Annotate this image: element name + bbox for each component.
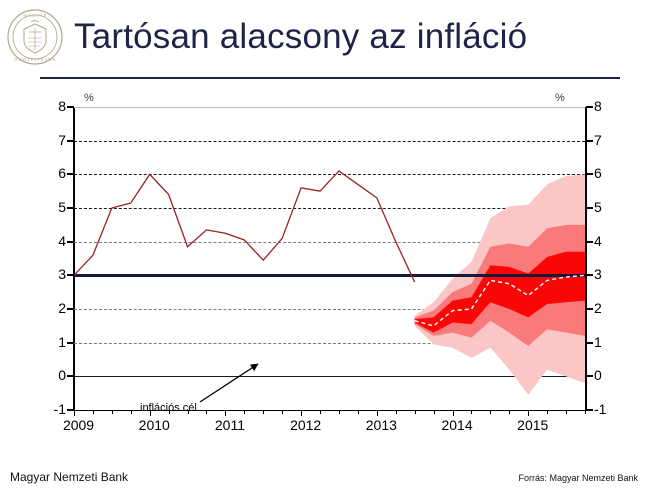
y-tick-mark-left-7 xyxy=(67,140,74,142)
y-tick-label-left-8: 8 xyxy=(26,99,66,113)
x-tick-mark xyxy=(225,410,226,416)
x-tick-mark xyxy=(358,410,359,414)
page-title: Tartósan alacsony az infláció xyxy=(74,14,527,60)
y-tick-mark-right-6 xyxy=(586,173,593,175)
x-tick-label-2013: 2013 xyxy=(366,417,397,433)
x-tick-mark xyxy=(244,410,245,414)
y-tick-mark-left--1 xyxy=(67,409,74,411)
x-tick-mark xyxy=(74,410,75,416)
y-tick-label-right-3: 3 xyxy=(594,267,634,281)
svg-text:N E M Z E T I B A N K: N E M Z E T I B A N K xyxy=(14,57,56,62)
y-tick-mark-right-7 xyxy=(586,140,593,142)
y-tick-label-right-0: 0 xyxy=(594,368,634,382)
inflation-target-arrow-icon xyxy=(198,358,268,406)
x-tick-mark xyxy=(471,410,472,414)
y-axis-unit-right: % xyxy=(555,92,565,104)
x-tick-mark xyxy=(320,410,321,414)
x-tick-mark xyxy=(93,410,94,414)
y-tick-mark-left-2 xyxy=(67,308,74,310)
y-tick-mark-left-3 xyxy=(67,274,74,276)
x-tick-mark xyxy=(490,410,491,414)
y-axis-unit-left: % xyxy=(84,92,94,104)
y-tick-mark-left-5 xyxy=(67,207,74,209)
x-tick-mark xyxy=(206,410,207,414)
y-tick-mark-right-4 xyxy=(586,241,593,243)
y-tick-label-left-6: 6 xyxy=(26,166,66,180)
title-divider xyxy=(40,77,620,79)
x-tick-label-2015: 2015 xyxy=(517,417,548,433)
y-tick-mark-right-1 xyxy=(586,342,593,344)
x-tick-mark xyxy=(415,410,416,414)
x-tick-mark xyxy=(301,410,302,416)
x-tick-label-2011: 2011 xyxy=(215,417,245,433)
y-tick-mark-right-5 xyxy=(586,207,593,209)
y-tick-label-left-3: 3 xyxy=(26,267,66,281)
x-tick-label-2014: 2014 xyxy=(441,417,472,433)
y-tick-label-right-2: 2 xyxy=(594,301,634,315)
inflation-target-annotation-label: inflációs cél xyxy=(140,402,197,414)
y-tick-label-left-4: 4 xyxy=(26,234,66,248)
y-tick-mark-left-1 xyxy=(67,342,74,344)
y-tick-label-right--1: -1 xyxy=(594,402,634,416)
y-tick-label-left-5: 5 xyxy=(26,200,66,214)
series-path xyxy=(415,275,585,326)
y-tick-label-right-4: 4 xyxy=(594,234,634,248)
x-tick-mark xyxy=(528,410,529,416)
plot-area xyxy=(74,107,585,410)
y-tick-label-right-8: 8 xyxy=(594,99,634,113)
x-tick-mark xyxy=(377,410,378,416)
y-tick-label-right-5: 5 xyxy=(594,200,634,214)
footer-source: Forrás: Magyar Nemzeti Bank xyxy=(518,473,638,483)
x-tick-mark xyxy=(131,410,132,414)
inflation-series-line xyxy=(74,107,585,410)
y-tick-mark-left-8 xyxy=(67,106,74,108)
y-tick-mark-right-0 xyxy=(586,375,593,377)
x-tick-label-2010: 2010 xyxy=(139,417,170,433)
y-tick-label-left-0: 0 xyxy=(26,368,66,382)
y-tick-label-left-1: 1 xyxy=(26,335,66,349)
y-tick-label-left-7: 7 xyxy=(26,133,66,147)
y-tick-mark-left-0 xyxy=(67,375,74,377)
x-tick-mark xyxy=(434,410,435,414)
svg-text:M A G Y A R: M A G Y A R xyxy=(23,13,46,18)
series-path xyxy=(74,171,415,282)
x-tick-mark xyxy=(566,410,567,414)
y-tick-label-left-2: 2 xyxy=(26,301,66,315)
y-tick-mark-right-3 xyxy=(586,274,593,276)
x-tick-mark xyxy=(509,410,510,414)
y-tick-label-left--1: -1 xyxy=(26,402,66,416)
x-tick-mark xyxy=(396,410,397,414)
x-tick-mark xyxy=(453,410,454,416)
x-tick-mark xyxy=(263,410,264,414)
inflation-fan-chart: % % -1-1001122334455667788 2009201020112… xyxy=(0,84,650,434)
x-tick-mark xyxy=(547,410,548,414)
x-tick-label-2009: 2009 xyxy=(63,417,94,433)
y-axis-right xyxy=(585,107,587,411)
x-tick-mark xyxy=(112,410,113,414)
x-tick-label-2012: 2012 xyxy=(290,417,321,433)
y-tick-mark-left-4 xyxy=(67,241,74,243)
x-tick-mark xyxy=(339,410,340,414)
y-tick-label-right-6: 6 xyxy=(594,166,634,180)
footer-institution: Magyar Nemzeti Bank xyxy=(10,470,128,484)
y-tick-label-right-1: 1 xyxy=(594,335,634,349)
x-tick-mark xyxy=(282,410,283,414)
magyar-nemzeti-bank-seal-icon: M A G Y A R N E M Z E T I B A N K xyxy=(6,8,64,66)
y-tick-mark-left-6 xyxy=(67,173,74,175)
y-tick-mark-right-8 xyxy=(586,106,593,108)
page-header: M A G Y A R N E M Z E T I B A N K Tartós… xyxy=(0,0,650,78)
x-tick-mark xyxy=(585,410,586,414)
y-tick-mark-right-2 xyxy=(586,308,593,310)
y-tick-label-right-7: 7 xyxy=(594,133,634,147)
y-tick-mark-right--1 xyxy=(586,409,593,411)
